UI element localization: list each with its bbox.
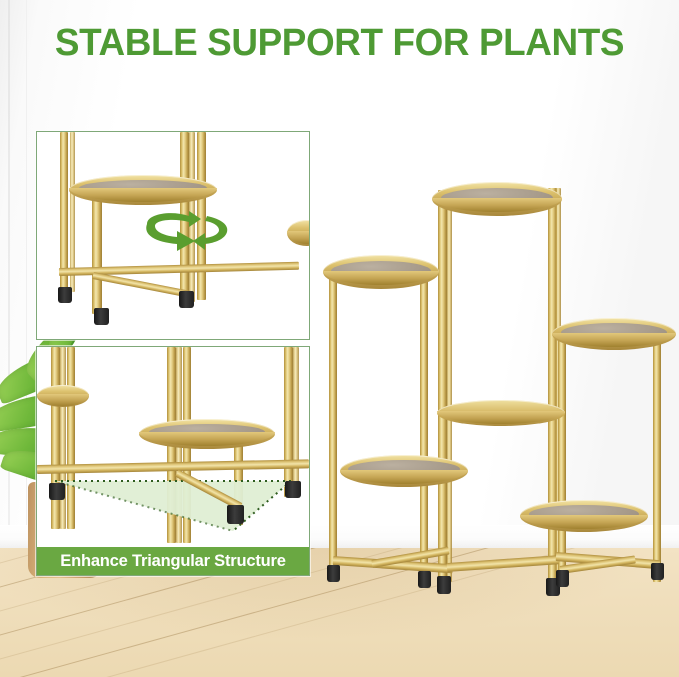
panel-foot — [179, 291, 194, 308]
inset-panel-rotation — [36, 131, 310, 340]
panel-cross-bar — [92, 272, 191, 298]
stand-foot — [651, 563, 664, 580]
stand-post — [438, 190, 447, 582]
panel-foot — [94, 308, 109, 325]
panel-tray-partial — [287, 220, 310, 246]
product-image: STABLE SUPPORT FOR PLANTS — [0, 0, 679, 677]
stand-foot — [556, 570, 569, 587]
stand-foot — [437, 576, 451, 594]
stand-post — [558, 330, 566, 584]
page-title: STABLE SUPPORT FOR PLANTS — [10, 22, 669, 65]
stand-tray-right-bottom — [520, 500, 648, 532]
panel-foot — [227, 505, 244, 524]
panel-caption-triangle: Enhance Triangular Structure — [37, 547, 309, 575]
rotation-arrow-icon — [137, 210, 237, 256]
stand-tray-center-top — [432, 182, 562, 216]
panel-foot — [58, 287, 72, 303]
stand-foot — [327, 565, 340, 582]
stand-post — [420, 266, 428, 578]
panel-tray — [139, 419, 275, 449]
stand-tray-left-bottom — [340, 455, 468, 487]
stand-tray-left-top — [323, 255, 439, 289]
panel-foot — [49, 483, 65, 500]
inset-panel-triangle: Enhance Triangular Structure — [36, 346, 310, 576]
panel-collar-ring — [37, 385, 89, 407]
panel-foot — [285, 481, 301, 498]
stand-tray-center-middle — [437, 400, 565, 426]
panel-tray — [69, 175, 217, 205]
stand-post — [447, 190, 452, 582]
stand-post — [329, 268, 337, 578]
stand-post — [653, 330, 661, 582]
stand-foot — [418, 571, 431, 588]
stand-tray-right-top — [552, 318, 676, 350]
